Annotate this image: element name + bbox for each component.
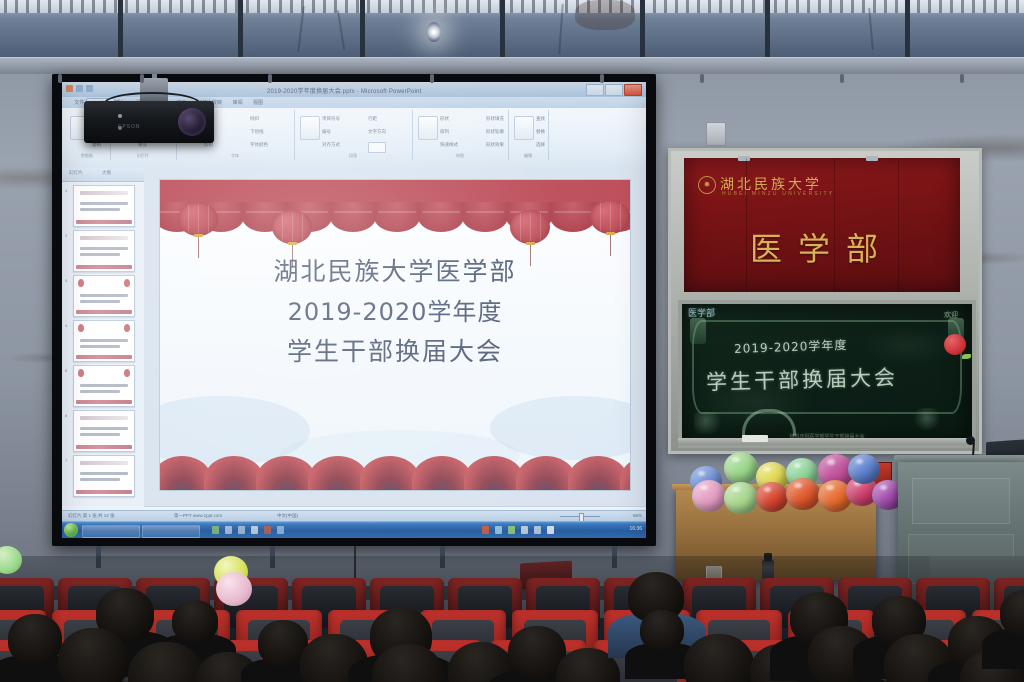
microphone-head-icon xyxy=(966,436,975,445)
tab-slides[interactable]: 幻灯片 xyxy=(69,170,83,176)
current-slide[interactable]: 湖北民族大学医学部 2019-2020学年度 学生干部换届大会 xyxy=(160,180,630,490)
balloon xyxy=(786,478,820,510)
volume-icon[interactable] xyxy=(547,526,554,534)
ribbon-big-button[interactable] xyxy=(418,116,438,140)
audience-balloon xyxy=(216,572,252,606)
ribbon-group-label: 剪贴板 xyxy=(64,153,110,159)
window-title: 2019-2020学年度换届大会.pptx - Microsoft PowerP… xyxy=(267,86,422,95)
window-mullion xyxy=(765,0,770,62)
lantern-cap xyxy=(288,242,297,245)
slide-thumbnail[interactable]: 2 xyxy=(73,230,135,272)
maximize-button[interactable] xyxy=(605,84,623,96)
projector-led-icon xyxy=(118,114,122,118)
window-streak xyxy=(337,10,345,50)
screen-icon[interactable] xyxy=(534,526,541,534)
fan-decor xyxy=(204,456,264,490)
ceiling-hook xyxy=(960,74,964,83)
slide-number: 7 xyxy=(65,458,67,463)
lantern-cap xyxy=(194,234,203,237)
undo-icon[interactable] xyxy=(76,85,83,92)
language-indicator[interactable]: 中文(中国) xyxy=(277,513,298,519)
window-light-glare xyxy=(427,22,441,42)
fan-decor xyxy=(568,456,628,490)
window-stain xyxy=(575,0,635,30)
ribbon-item[interactable]: 形状效果 xyxy=(486,142,504,148)
ceiling-hook xyxy=(600,74,604,83)
ribbon-item[interactable]: 形状轮廓 xyxy=(486,129,504,135)
ribbon-item[interactable]: 倾斜 xyxy=(250,116,259,122)
theme-name: 第一PPT www.1ppt.com xyxy=(174,513,222,519)
ribbon-tab-8[interactable]: 视图 xyxy=(245,98,271,108)
window-mullion xyxy=(905,0,910,62)
ribbon-group-label: 段落 xyxy=(294,153,412,159)
lantern-scallop xyxy=(330,202,376,232)
lantern xyxy=(178,202,218,236)
ceiling-hook xyxy=(700,74,704,83)
powerpoint-window: 2019-2020学年度换届大会.pptx - Microsoft PowerP… xyxy=(62,82,646,538)
audience-head xyxy=(640,610,684,650)
ribbon-big-button[interactable] xyxy=(300,116,320,140)
balloon xyxy=(724,482,758,514)
ribbon-item[interactable]: 对齐方式 xyxy=(322,142,340,148)
fan-decor xyxy=(308,456,368,490)
banner-university-name-en: HUBEI MINZU UNIVERSITY xyxy=(722,191,834,197)
ribbon-group-label: 编辑 xyxy=(508,153,548,159)
redo-icon[interactable] xyxy=(86,85,93,92)
slide-number: 5 xyxy=(65,368,67,373)
audience-area xyxy=(0,556,1024,682)
slide-thumbnail[interactable]: 3 xyxy=(73,275,135,317)
balloon xyxy=(756,482,788,512)
ribbon-item[interactable]: 编号 xyxy=(322,129,331,135)
slide-thumbnail-panel[interactable]: 幻灯片 大纲 1 2 3 xyxy=(62,168,145,506)
slide-line-2: 2019-2020学年度 xyxy=(160,292,630,327)
taskbar-quicklaunch-icon[interactable] xyxy=(225,526,232,534)
ceiling-hook xyxy=(268,74,272,83)
slide-line-1: 湖北民族大学医学部 xyxy=(160,252,630,288)
slide-number: 4 xyxy=(65,323,67,328)
slide-editing-area[interactable]: 湖北民族大学医学部 2019-2020学年度 学生干部换届大会 xyxy=(144,168,646,506)
ceiling-hook xyxy=(58,74,62,83)
ribbon-group-4[interactable]: 形状排列快速样式形状填充形状轮廓形状效果绘图 xyxy=(412,110,509,160)
fan-decor xyxy=(360,456,420,490)
audience-head xyxy=(172,600,218,642)
slide-line-3: 学生干部换届大会 xyxy=(160,332,630,368)
taskbar-item[interactable] xyxy=(142,525,200,538)
lantern xyxy=(510,210,550,244)
slide-number: 2 xyxy=(65,233,67,238)
projection-screen: 2019-2020学年度换届大会.pptx - Microsoft PowerP… xyxy=(62,82,646,538)
projector-lens-icon xyxy=(178,108,206,136)
fan-decor xyxy=(412,456,472,490)
ribbon-item[interactable]: 下划线 xyxy=(250,129,264,135)
window-streak xyxy=(868,8,874,50)
ribbon-group-3[interactable]: 项目符号编号对齐方式行距文字方向段落 xyxy=(294,110,413,160)
chalk-flower-decor xyxy=(694,412,724,434)
ribbon-item[interactable]: 行距 xyxy=(368,116,377,122)
slide-number: 6 xyxy=(65,413,67,418)
ribbon-item[interactable]: 形状填充 xyxy=(486,116,504,122)
chalk-flower-decor xyxy=(912,408,942,430)
ribbon-item[interactable]: 替换 xyxy=(536,129,545,135)
window-mullion xyxy=(640,0,645,62)
lantern-scallop xyxy=(418,202,464,232)
taskbar-clock[interactable]: 16:36 xyxy=(629,526,642,532)
slide-number: 1 xyxy=(65,188,67,193)
ribbon-item[interactable]: 项目符号 xyxy=(322,116,340,122)
chalkboard: 医学部 欢迎 2019-2020学年度 学生干部换届大会 热烈庆祝医学部学生干部… xyxy=(678,300,976,448)
balloon xyxy=(848,454,880,484)
fan-decor xyxy=(464,456,524,490)
lectern-panel xyxy=(912,478,1010,524)
shield-icon[interactable] xyxy=(508,526,515,534)
ribbon-item[interactable]: 字体颜色 xyxy=(250,142,268,148)
lantern-cap xyxy=(526,242,535,245)
university-banner: ✹ 湖北民族大学 HUBEI MINZU UNIVERSITY 医学部 xyxy=(684,158,960,292)
start-button-icon[interactable] xyxy=(64,523,78,537)
ribbon-big-button[interactable] xyxy=(514,116,534,140)
ribbon-group-label: 幻灯片 xyxy=(110,153,176,159)
slide-thumbnail[interactable]: 7 xyxy=(73,455,135,497)
ceiling-hook xyxy=(840,74,844,83)
fan-border xyxy=(160,456,630,490)
slide-thumbnail[interactable]: 1 xyxy=(73,185,135,227)
minimize-button[interactable] xyxy=(586,84,604,96)
window-sill xyxy=(0,57,1024,74)
lantern xyxy=(590,200,630,234)
lecture-hall-photo: 2019-2020学年度换届大会.pptx - Microsoft PowerP… xyxy=(0,0,1024,682)
ribbon-item[interactable]: 形状 xyxy=(440,116,449,122)
close-button[interactable] xyxy=(624,84,642,96)
slide-counter: 幻灯片 第 1 张,共 12 张 xyxy=(68,513,115,519)
blackboard-eraser xyxy=(742,435,768,442)
window-mullion xyxy=(238,0,243,62)
banner-clip xyxy=(738,156,750,161)
chalk-main-line: 学生干部换届大会 xyxy=(706,361,899,396)
lantern-scallop xyxy=(462,202,508,232)
fan-decor xyxy=(516,456,576,490)
balloon xyxy=(724,452,758,484)
window-mullion xyxy=(360,0,365,62)
media-icon[interactable] xyxy=(482,526,489,534)
apple-decoration xyxy=(944,334,966,355)
wall-socket-plate xyxy=(706,122,726,146)
network-icon[interactable] xyxy=(495,526,502,534)
chalk-department-tag: 医学部 xyxy=(688,306,715,319)
clerestory-windows xyxy=(0,0,1024,62)
chalk-tray xyxy=(678,438,968,445)
windows-taskbar[interactable]: 16:36 xyxy=(62,521,646,538)
taskbar-quicklaunch-icon[interactable] xyxy=(277,526,284,534)
window-mullion xyxy=(118,0,123,62)
lantern-scallop xyxy=(374,202,420,232)
ribbon-group-label: 字体 xyxy=(176,153,294,159)
taskbar-quicklaunch-icon[interactable] xyxy=(238,526,245,534)
lantern-cap xyxy=(606,232,615,235)
tab-outline[interactable]: 大纲 xyxy=(102,170,111,176)
ribbon-item[interactable]: 选择 xyxy=(536,142,545,148)
projector-brand-label: EPSON xyxy=(118,124,141,130)
audience-head xyxy=(58,628,128,682)
ribbon-item[interactable]: 查找 xyxy=(536,116,545,122)
chalk-small-note: 欢迎 xyxy=(944,310,958,320)
fan-decor xyxy=(620,456,630,490)
slide-thumbnail[interactable]: 6 xyxy=(73,410,135,452)
ceiling-hook xyxy=(430,74,434,83)
ribbon-item[interactable]: 文字方向 xyxy=(368,129,386,135)
ribbon-item[interactable]: 排列 xyxy=(440,129,449,135)
taskbar-quicklaunch-icon[interactable] xyxy=(212,526,219,534)
ribbon-group-5[interactable]: 查找替换选择编辑 xyxy=(508,110,549,160)
taskbar-quicklaunch-icon[interactable] xyxy=(264,526,271,534)
university-seal-icon: ✹ xyxy=(698,176,716,194)
fan-decor xyxy=(256,456,316,490)
slide-thumbnail[interactable]: 5 xyxy=(73,365,135,407)
lantern xyxy=(272,210,312,244)
ribbon-item[interactable]: 快速样式 xyxy=(440,142,458,148)
quick-access-toolbar[interactable] xyxy=(66,85,93,92)
banner-clip xyxy=(866,156,878,161)
leaf-decoration xyxy=(962,354,971,359)
taskbar-item[interactable] xyxy=(82,525,140,538)
ribbon-group-label: 绘图 xyxy=(412,153,508,159)
sync-icon[interactable] xyxy=(521,526,528,534)
save-icon[interactable] xyxy=(66,85,73,92)
ceiling-hook xyxy=(140,74,144,83)
banner-department-name: 医学部 xyxy=(684,224,960,270)
balloon xyxy=(692,480,726,512)
ribbon-item-icon[interactable] xyxy=(368,142,386,153)
slide-thumbnail[interactable]: 4 xyxy=(73,320,135,362)
audience-head xyxy=(8,614,62,664)
taskbar-quicklaunch-icon[interactable] xyxy=(251,526,258,534)
zoom-level[interactable]: 66% xyxy=(633,513,642,518)
window-mullion xyxy=(500,0,505,62)
slide-panel-tabs[interactable]: 幻灯片 大纲 xyxy=(62,168,144,182)
slide-number: 3 xyxy=(65,278,67,283)
chalk-scroll-roll xyxy=(690,318,706,344)
